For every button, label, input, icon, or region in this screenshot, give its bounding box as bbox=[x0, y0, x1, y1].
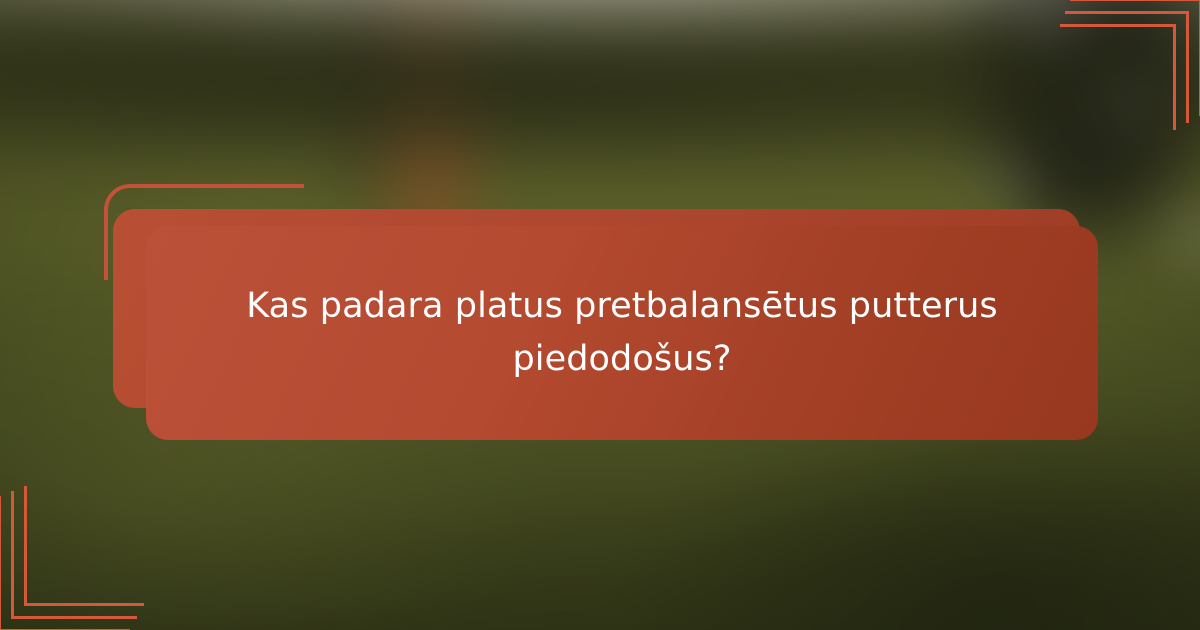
headline-text: Kas padara platus pretbalansētus putteru… bbox=[146, 226, 1098, 440]
corner-bracket-bottom-left-inner bbox=[24, 486, 144, 606]
social-card-canvas: Kas padara platus pretbalansētus putteru… bbox=[0, 0, 1200, 630]
corner-bracket-top-right-inner bbox=[1060, 24, 1176, 130]
